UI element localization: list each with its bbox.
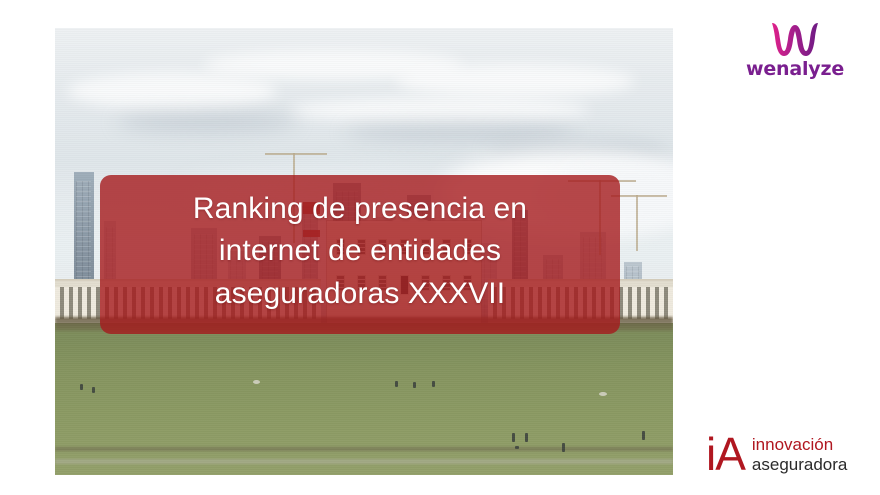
crane-icon bbox=[636, 195, 638, 251]
footpath bbox=[55, 459, 673, 464]
ia-line-aseguradora: aseguradora bbox=[752, 455, 847, 475]
person-figure bbox=[512, 433, 515, 442]
lawn-band bbox=[55, 447, 673, 451]
person-figure bbox=[413, 382, 416, 388]
lawn bbox=[55, 323, 673, 475]
innovacion-aseguradora-logo[interactable]: iA innovación aseguradora bbox=[706, 424, 876, 486]
ia-monogram: iA bbox=[706, 431, 745, 477]
ground-object bbox=[253, 380, 260, 384]
wenalyze-wordmark: wenalyze bbox=[735, 60, 855, 79]
cloud bbox=[290, 97, 590, 123]
person-figure bbox=[92, 387, 95, 393]
crane-icon bbox=[265, 153, 327, 155]
cloud bbox=[395, 64, 635, 98]
cloud bbox=[67, 72, 277, 110]
person-figure bbox=[395, 381, 398, 387]
ia-wordmark: innovación aseguradora bbox=[752, 435, 847, 475]
wenalyze-logo[interactable]: wenalyze bbox=[735, 20, 855, 79]
ia-line-innovacion: innovación bbox=[752, 435, 847, 455]
slide-canvas: Ranking de presencia en internet de enti… bbox=[0, 0, 880, 495]
person-figure bbox=[80, 384, 83, 390]
person-figure bbox=[525, 433, 528, 442]
person-figure bbox=[432, 381, 435, 387]
wenalyze-w-mark-icon bbox=[769, 20, 821, 58]
person-figure bbox=[642, 431, 645, 440]
person-figure bbox=[562, 443, 565, 452]
slide-title: Ranking de presencia en internet de enti… bbox=[193, 188, 527, 316]
title-overlay-box: Ranking de presencia en internet de enti… bbox=[100, 175, 620, 334]
ground-object bbox=[599, 392, 607, 396]
